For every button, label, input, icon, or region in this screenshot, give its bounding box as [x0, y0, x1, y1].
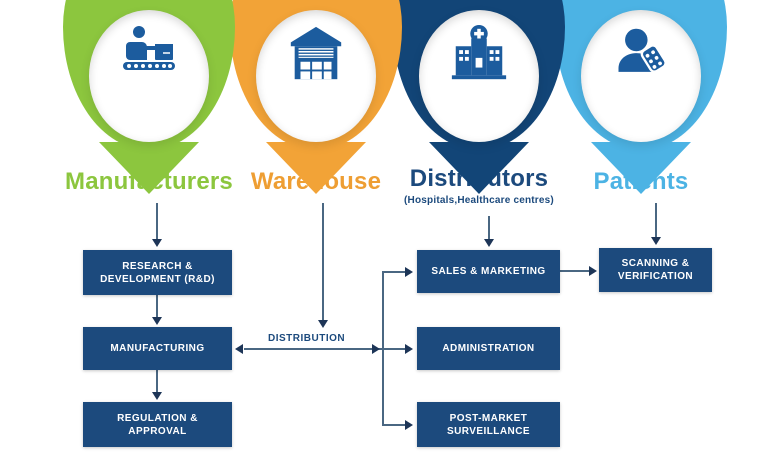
connector-distributors-to-sales: [488, 216, 490, 240]
connector-sales-to-scanning: [560, 270, 592, 272]
arrowhead-down: [484, 239, 494, 247]
box-research-development[interactable]: RESEARCH & DEVELOPMENT (R&D): [83, 250, 232, 295]
pin-tip: [429, 142, 529, 194]
supply-chain-diagram: Manufacturers Warehouse Distributors (Ho…: [0, 0, 768, 457]
pin-tip: [266, 142, 366, 194]
arrowhead-right: [372, 344, 380, 354]
hospital-building-icon: [444, 19, 514, 89]
box-manufacturing[interactable]: MANUFACTURING: [83, 327, 232, 370]
box-regulation-approval[interactable]: REGULATION & APPROVAL: [83, 402, 232, 447]
arrowhead-down: [651, 237, 661, 245]
arrowhead-down: [318, 320, 328, 328]
connector-manufacturing-to-regulation: [156, 370, 158, 393]
connector-rd-to-manufacturing: [156, 295, 158, 318]
arrowhead-down: [152, 317, 162, 325]
box-scanning-verification[interactable]: SCANNING & VERIFICATION: [599, 248, 712, 292]
pin-manufacturers: [63, 0, 235, 150]
box-sales-marketing[interactable]: SALES & MARKETING: [417, 250, 560, 293]
pin-warehouse: [230, 0, 402, 150]
warehouse-building-icon: [281, 19, 351, 89]
pin-patients: [555, 0, 727, 150]
arrowhead-down: [152, 392, 162, 400]
arrowhead-left: [235, 344, 243, 354]
connector-distribution-spine: [244, 348, 390, 350]
arrowhead-right: [405, 344, 413, 354]
pin-tip: [99, 142, 199, 194]
connector-warehouse-to-distribution: [322, 203, 324, 321]
pin-tip: [591, 142, 691, 194]
arrowhead-right: [405, 267, 413, 277]
connector-label-distribution: DISTRIBUTION: [268, 333, 345, 344]
patient-with-pills-icon: [606, 19, 676, 89]
connector-patients-to-scanning: [655, 203, 657, 238]
connector-manufacturers-to-rd: [156, 203, 158, 240]
factory-worker-conveyor-icon: [114, 19, 184, 89]
box-post-market-surveillance[interactable]: POST-MARKET SURVEILLANCE: [417, 402, 560, 447]
arrowhead-down: [152, 239, 162, 247]
box-administration[interactable]: ADMINISTRATION: [417, 327, 560, 370]
stage-subtitle: (Hospitals,Healthcare centres): [393, 194, 565, 208]
arrowhead-right: [405, 420, 413, 430]
pin-distributors: [393, 0, 565, 150]
arrowhead-right: [589, 266, 597, 276]
